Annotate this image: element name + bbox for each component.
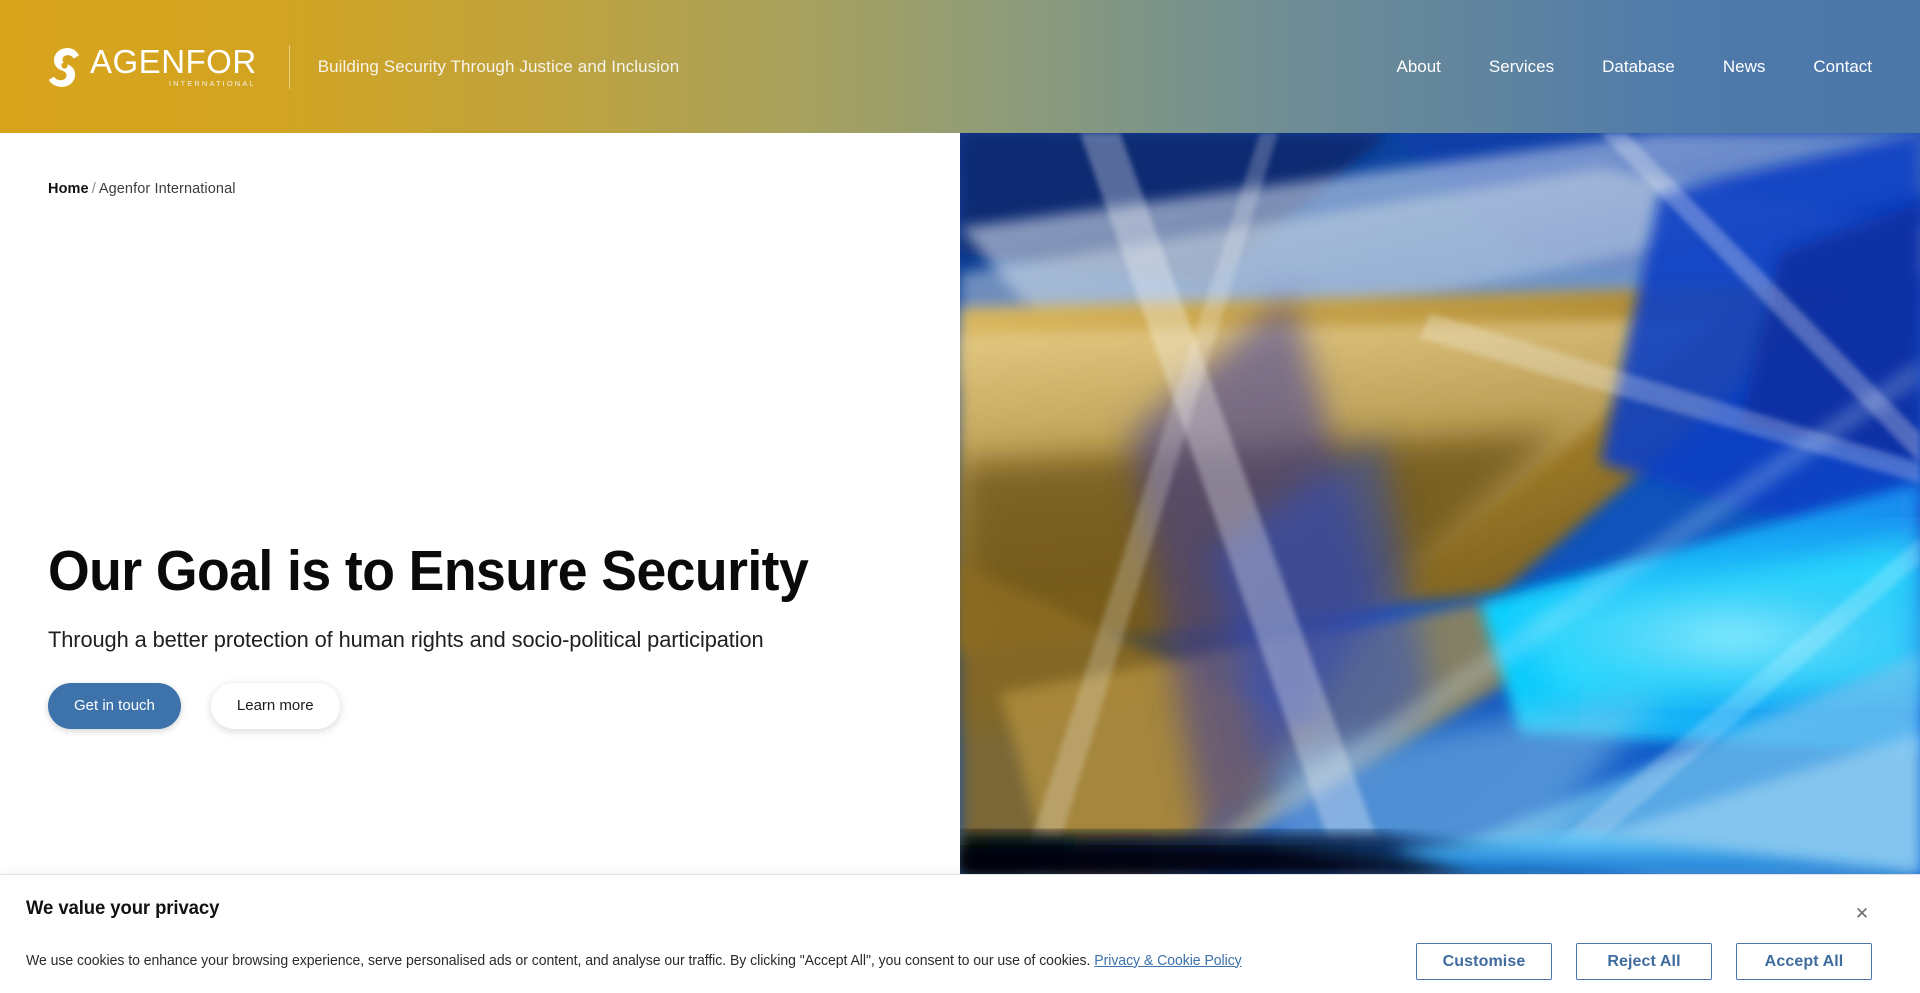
nav-item-news[interactable]: News	[1699, 47, 1790, 87]
privacy-cookie-policy-link[interactable]: Privacy & Cookie Policy	[1094, 953, 1241, 969]
cookie-banner-row: We use cookies to enhance your browsing …	[26, 943, 1872, 980]
breadcrumb: Home/Agenfor International	[48, 181, 912, 197]
header-tagline: Building Security Through Justice and In…	[318, 57, 680, 77]
reject-all-button[interactable]: Reject All	[1576, 943, 1712, 980]
hero-subtitle: Through a better protection of human rig…	[48, 625, 902, 654]
nav-item-services[interactable]: Services	[1465, 47, 1578, 87]
cookie-banner-title: We value your privacy	[26, 897, 1780, 920]
nav-item-about[interactable]: About	[1372, 47, 1464, 87]
learn-more-button[interactable]: Learn more	[211, 683, 340, 729]
cookie-banner-body: We use cookies to enhance your browsing …	[26, 953, 1090, 969]
agenfor-swirl-icon	[48, 46, 81, 88]
hero-copy: Our Goal is to Ensure Security Through a…	[48, 541, 928, 729]
main-navigation: About Services Database News Contact	[1372, 47, 1872, 87]
hero-actions: Get in touch Learn more	[48, 683, 928, 729]
cookie-banner-text: We use cookies to enhance your browsing …	[26, 952, 1242, 972]
brand-divider	[289, 45, 290, 89]
hero-left-column: Home/Agenfor International	[0, 133, 960, 874]
logo-subtitle: INTERNATIONAL	[169, 80, 256, 88]
cookie-consent-banner: ✕ We value your privacy We use cookies t…	[0, 874, 1920, 993]
nav-item-database[interactable]: Database	[1578, 47, 1699, 87]
get-in-touch-button[interactable]: Get in touch	[48, 683, 181, 729]
logo-wordmark: AGENFOR	[90, 46, 257, 77]
site-header: AGENFOR INTERNATIONAL Building Security …	[0, 0, 1920, 133]
page-body: Home/Agenfor International Our Goal is t…	[0, 133, 1920, 993]
breadcrumb-current: Agenfor International	[99, 181, 236, 197]
breadcrumb-separator: /	[92, 181, 96, 197]
hero-artwork	[960, 133, 1920, 874]
customise-button[interactable]: Customise	[1416, 943, 1552, 980]
cookie-banner-actions: Customise Reject All Accept All	[1416, 943, 1872, 980]
breadcrumb-home[interactable]: Home	[48, 181, 89, 197]
site-logo[interactable]: AGENFOR INTERNATIONAL	[48, 46, 257, 88]
logo-text: AGENFOR INTERNATIONAL	[90, 46, 257, 88]
page-title: Our Goal is to Ensure Security	[48, 541, 875, 603]
accept-all-button[interactable]: Accept All	[1736, 943, 1872, 980]
brand-block[interactable]: AGENFOR INTERNATIONAL Building Security …	[48, 0, 679, 133]
nav-item-contact[interactable]: Contact	[1789, 47, 1872, 87]
close-icon[interactable]: ✕	[1852, 903, 1872, 923]
